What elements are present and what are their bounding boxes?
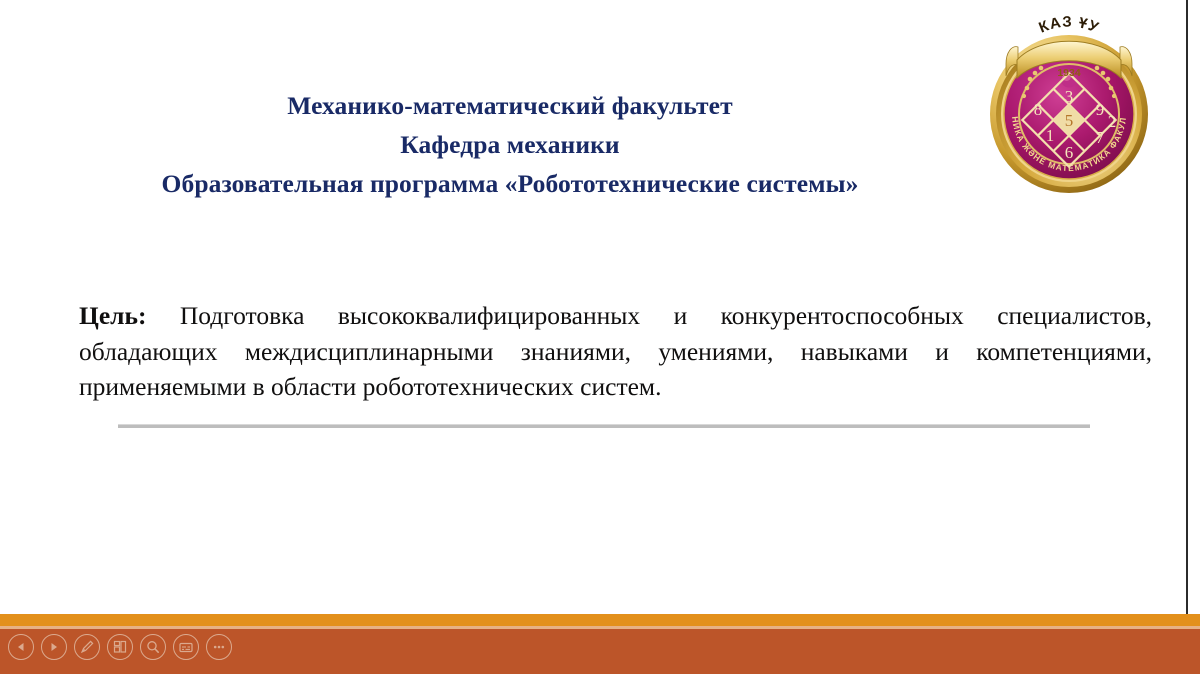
previous-slide-button[interactable] (8, 634, 34, 660)
accent-bar (0, 614, 1200, 626)
presentation-slide-viewer: Механико-математический факультет Кафедр… (0, 0, 1200, 674)
emblem-number-6: 6 (1065, 143, 1074, 162)
slide-title: Механико-математический факультет Кафедр… (60, 86, 960, 203)
content-divider (118, 424, 1090, 428)
emblem-number-3: 3 (1065, 87, 1074, 106)
emblem-banner-text: КАЗ ҰУ (1036, 16, 1101, 37)
title-line-2: Кафедра механики (60, 125, 960, 164)
triangle-right-icon (48, 641, 60, 653)
title-line-3: Образовательная программа «Робототехниче… (60, 164, 960, 203)
body-paragraph: Подготовка высококвалифицированных и кон… (79, 301, 1152, 401)
more-options-button[interactable] (206, 634, 232, 660)
title-line-1: Механико-математический факультет (60, 86, 960, 125)
pen-icon (79, 639, 95, 655)
emblem-number-1: 1 (1046, 126, 1055, 145)
emblem-number-5: 5 (1065, 111, 1074, 130)
subtitles-button[interactable] (173, 634, 199, 660)
slide-right-edge-rule (1186, 0, 1188, 616)
ellipsis-icon (211, 639, 227, 655)
svg-text:КАЗ ҰУ: КАЗ ҰУ (1036, 16, 1101, 37)
zoom-button[interactable] (140, 634, 166, 660)
next-slide-button[interactable] (41, 634, 67, 660)
slide-overview-button[interactable] (107, 634, 133, 660)
grid-slides-icon (112, 639, 128, 655)
presentation-toolbar (0, 629, 1200, 674)
pen-tool-button[interactable] (74, 634, 100, 660)
faculty-emblem-logo: МЕХАНИКА ЖӘНЕ МАТЕМАТИКА ФАКУЛЬТЕТІ (988, 16, 1150, 196)
subtitles-icon (178, 639, 194, 655)
slide-canvas: Механико-математический факультет Кафедр… (0, 0, 1186, 614)
slide-body-text: Цель: Подготовка высококвалифицированных… (79, 298, 1152, 405)
body-lead-label: Цель: (79, 301, 146, 330)
emblem-number-7: 7 (1096, 128, 1105, 147)
emblem-number-8: 8 (1034, 100, 1043, 119)
magnifier-icon (145, 639, 161, 655)
emblem-number-2: 2 (1108, 112, 1117, 131)
emblem-banner-year: 1934 (1057, 67, 1081, 79)
emblem-number-9: 9 (1096, 100, 1105, 119)
toolbar-button-group (8, 634, 232, 660)
triangle-left-icon (15, 641, 27, 653)
